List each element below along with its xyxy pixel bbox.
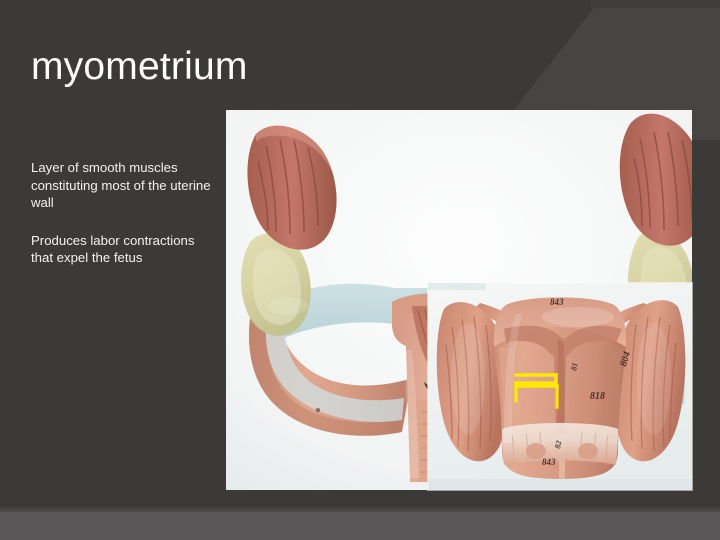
svg-text:82: 82 <box>553 440 563 449</box>
background-top-strip <box>590 0 720 8</box>
uterus-model-anterior-photo: 843 81 818 804 843 82 <box>428 283 692 490</box>
body-text-block: Layer of smooth muscles constituting mos… <box>31 159 211 267</box>
page-title: myometrium <box>31 44 248 90</box>
slide: myometrium Layer of smooth muscles const… <box>0 0 720 540</box>
svg-text:843: 843 <box>550 297 564 307</box>
svg-text:818: 818 <box>590 391 605 402</box>
background-bottom-band <box>0 512 720 540</box>
body-paragraph-2: Produces labor contractions that expel t… <box>31 232 211 267</box>
svg-text:843: 843 <box>542 457 556 467</box>
body-paragraph-1: Layer of smooth muscles constituting mos… <box>31 159 211 212</box>
